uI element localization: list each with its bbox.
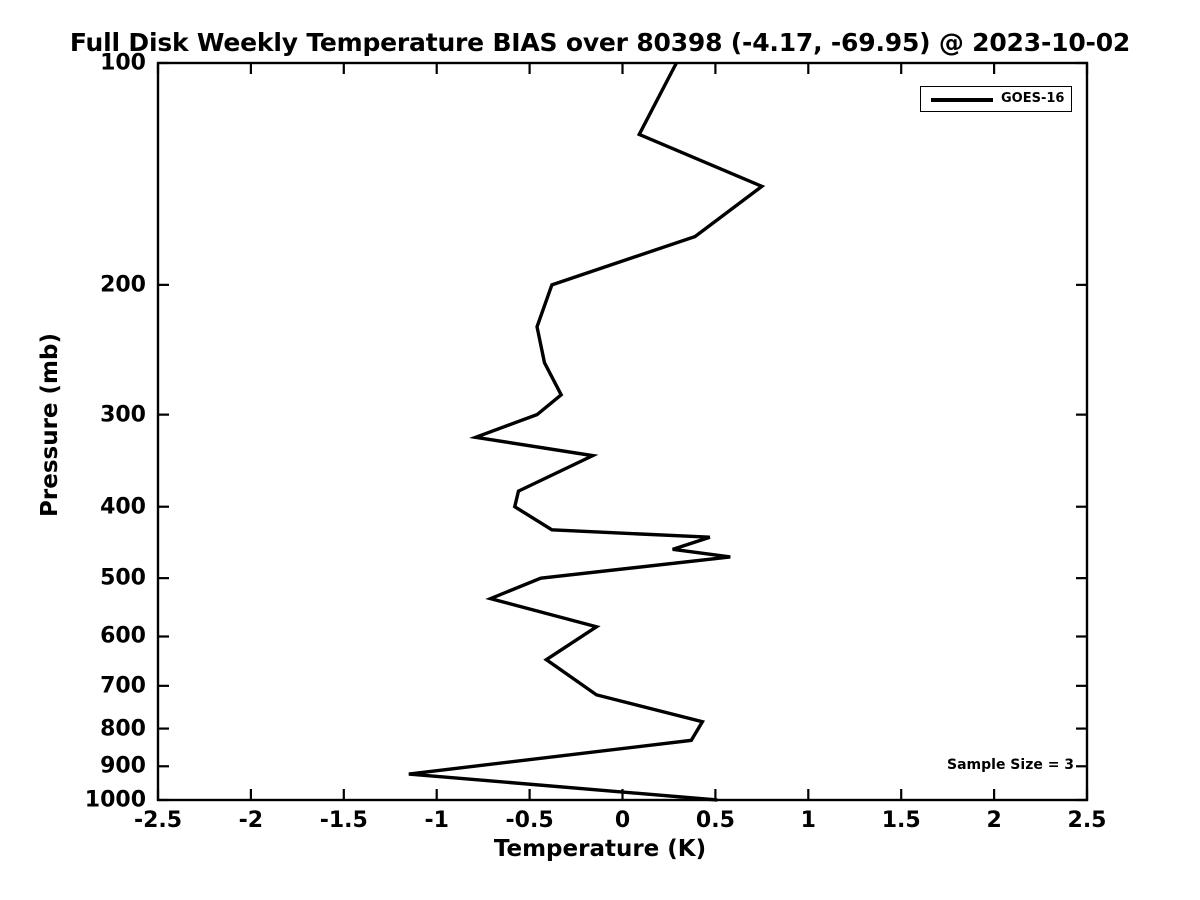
y-tick-label: 700: [0, 673, 146, 698]
legend-entry-label: GOES-16: [1001, 91, 1064, 106]
x-tick-label: -0.5: [506, 808, 554, 833]
data-line-goes-16: [409, 63, 762, 800]
y-tick-label: 500: [0, 566, 146, 591]
x-tick-label: 0: [615, 808, 630, 833]
data-series-lines: [409, 63, 762, 800]
x-axis-label: Temperature (K): [0, 836, 1200, 862]
tick-marks: [158, 63, 1087, 800]
plot-frame: [158, 63, 1087, 800]
x-tick-label: 1: [801, 808, 816, 833]
x-tick-label: 2: [986, 808, 1001, 833]
y-tick-label: 200: [0, 272, 146, 297]
y-tick-label: 1000: [0, 788, 146, 813]
x-tick-label: -1: [424, 808, 448, 833]
chart-page: Full Disk Weekly Temperature BIAS over 8…: [0, 0, 1200, 900]
axes-frame: [158, 63, 1087, 800]
legend[interactable]: GOES-16: [920, 86, 1072, 112]
x-tick-label: -1.5: [320, 808, 368, 833]
x-tick-label: -2: [239, 808, 263, 833]
y-tick-label: 400: [0, 494, 146, 519]
x-tick-label: -2.5: [134, 808, 182, 833]
x-tick-label: 2.5: [1068, 808, 1107, 833]
y-tick-label: 300: [0, 402, 146, 427]
y-axis-label: Pressure (mb): [37, 305, 63, 545]
x-tick-label: 1.5: [882, 808, 921, 833]
y-tick-label: 600: [0, 624, 146, 649]
y-tick-label: 100: [0, 51, 146, 76]
y-tick-label: 800: [0, 716, 146, 741]
legend-line-swatch: [931, 98, 993, 102]
y-tick-label: 900: [0, 754, 146, 779]
sample-size-annotation: Sample Size = 3: [947, 757, 1074, 773]
x-tick-label: 0.5: [696, 808, 735, 833]
